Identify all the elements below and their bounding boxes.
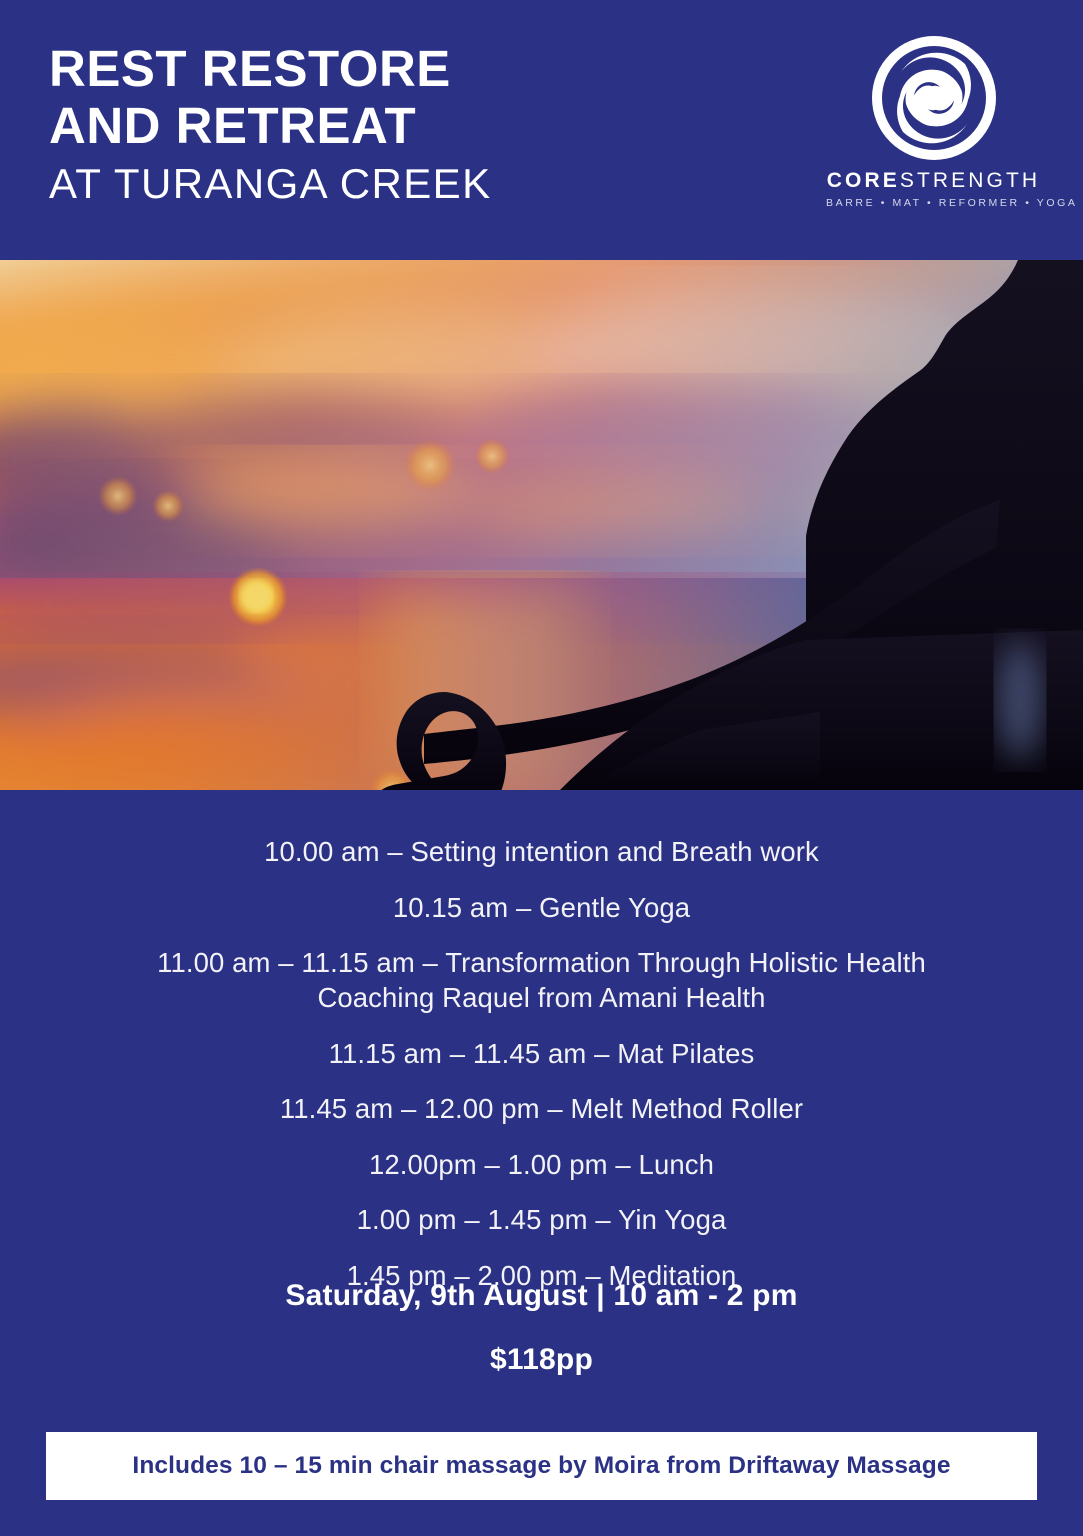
brand-logo: CORESTRENGTH BARRE • MAT • REFORMER • YO… (826, 34, 1041, 209)
schedule-item: 11.00 am – 11.15 am – Transformation Thr… (0, 946, 1083, 981)
logo-tagline: BARRE • MAT • REFORMER • YOGA (826, 198, 1041, 209)
logo-wordmark: CORESTRENGTH (826, 170, 1041, 191)
schedule-item: 10.00 am – Setting intention and Breath … (0, 835, 1083, 870)
logo-word-core: CORE (827, 169, 900, 192)
spiral-swirl-icon (870, 34, 998, 162)
header-band: REST RESTORE AND RETREAT AT TURANGA CREE… (0, 0, 1083, 260)
inclusion-banner-text: Includes 10 – 15 min chair massage by Mo… (132, 1452, 950, 1480)
event-date-time: Saturday, 9th August | 10 am - 2 pm (0, 1278, 1083, 1314)
schedule-item-continuation: Coaching Raquel from Amani Health (0, 981, 1083, 1016)
title-line-2: AND RETREAT (49, 97, 492, 154)
schedule-list: 10.00 am – Setting intention and Breath … (0, 835, 1083, 1315)
title-subtitle: AT TURANGA CREEK (49, 158, 492, 211)
schedule-item: 1.00 pm – 1.45 pm – Yin Yoga (0, 1203, 1083, 1238)
meditation-silhouette-photo (0, 260, 1083, 790)
logo-word-strength: STRENGTH (900, 169, 1040, 192)
page-title: REST RESTORE AND RETREAT AT TURANGA CREE… (49, 40, 492, 211)
inclusion-banner: Includes 10 – 15 min chair massage by Mo… (46, 1432, 1037, 1500)
event-details: Saturday, 9th August | 10 am - 2 pm $118… (0, 1278, 1083, 1378)
schedule-item: 11.45 am – 12.00 pm – Melt Method Roller (0, 1092, 1083, 1127)
schedule-item: 10.15 am – Gentle Yoga (0, 891, 1083, 926)
event-price: $118pp (0, 1342, 1083, 1378)
title-line-1: REST RESTORE (49, 40, 492, 97)
schedule-item: 11.15 am – 11.45 am – Mat Pilates (0, 1037, 1083, 1072)
poster-root: REST RESTORE AND RETREAT AT TURANGA CREE… (0, 0, 1083, 1536)
schedule-item: 12.00pm – 1.00 pm – Lunch (0, 1148, 1083, 1183)
